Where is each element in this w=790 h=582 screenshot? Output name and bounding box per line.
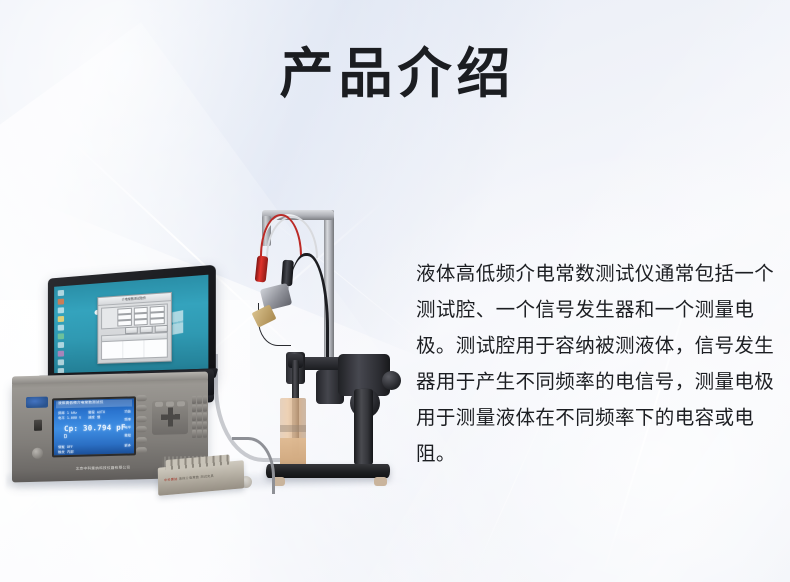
meter-lcd-display: 液体高低频介电常数测试仪 频率 1 kHz 电平 1.000 V 量程 AUTO… — [52, 396, 136, 457]
stand-adjust-knob — [382, 371, 401, 390]
fixture-label-model: 液体介电常数 测试夹具 — [179, 474, 214, 481]
lcd-secondary-reading: D — [64, 434, 67, 440]
stand-vertical-post — [354, 389, 373, 465]
meter-numeric-keypad — [192, 396, 207, 438]
meter-usb-port — [34, 420, 42, 431]
desktop-icons — [58, 289, 73, 373]
lcd-softkey-1: 功能 — [124, 408, 131, 413]
laptop-lid: 介电常数测试软件 — [48, 265, 216, 382]
lcd-softkey-3: 电平 — [124, 424, 131, 429]
meter-softkey-buttons — [136, 395, 147, 453]
software-data-table — [101, 332, 168, 360]
product-photo: 介电常数测试软件 — [0, 176, 412, 496]
measurement-software-window: 介电常数测试软件 — [97, 292, 172, 364]
lcd-softkey-5: 更多 — [124, 442, 131, 447]
meter-brand-text: 北京中科惠纳科技仪器有限公司 — [56, 465, 150, 472]
vial-label-band — [280, 425, 306, 432]
meter-power-button — [32, 448, 43, 459]
lcd-speed-text: 速度 慢 — [88, 414, 100, 419]
lcd-primary-reading: Cp: 30.794 pF — [64, 423, 126, 434]
red-bnc-connector — [255, 255, 269, 282]
meter-brand-logo-icon — [26, 397, 48, 409]
stand-base-plate — [266, 464, 390, 478]
software-data-table-header — [102, 333, 167, 342]
product-description-paragraph: 液体高低频介电常数测试仪通常包括一个测试腔、一个信号发生器和一个测量电极。测试腔… — [416, 256, 776, 472]
lcd-softkey-4: 量程 — [124, 432, 131, 437]
page-title: 产品介绍 — [0, 47, 790, 101]
lcd-softkey-2: 频率 — [124, 416, 131, 421]
lcd-trigger-text: 触发 内部 — [58, 449, 74, 454]
stand-foot-right — [374, 477, 387, 486]
black-bnc-connector — [281, 260, 294, 287]
lcd-level-text: 电平 1.000 V — [58, 415, 81, 421]
fixture-label: 中科惠纳 液体介电常数 测试夹具 — [164, 471, 238, 482]
laptop-screen: 介电常数测试软件 — [54, 275, 208, 373]
liquid-sample-vial — [280, 398, 306, 468]
product-introduction-banner: 产品介绍 液体高低频介电常数测试仪通常包括一个测试腔、一个信号发生器和一个测量电… — [0, 0, 790, 582]
fixture-label-brand: 中科惠纳 — [164, 477, 178, 482]
meter-navigation-pad — [152, 400, 188, 435]
arrow-pad-icon — [161, 407, 180, 426]
